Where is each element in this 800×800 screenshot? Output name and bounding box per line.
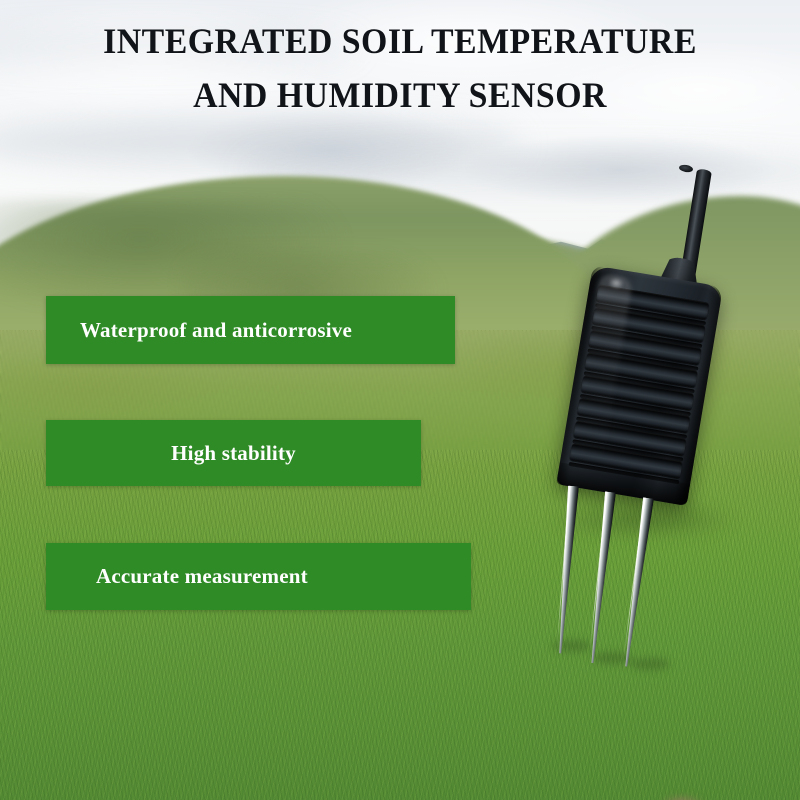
feature-label: Accurate measurement (96, 564, 308, 589)
feature-label: Waterproof and anticorrosive (80, 318, 352, 343)
background-scene (0, 0, 800, 800)
feature-banner-accuracy[interactable]: Accurate measurement (46, 543, 471, 610)
feature-label: High stability (171, 441, 296, 466)
feature-banner-stability[interactable]: High stability (46, 420, 421, 486)
product-poster: INTEGRATED SOIL TEMPERATURE AND HUMIDITY… (0, 0, 800, 800)
feature-banner-waterproof[interactable]: Waterproof and anticorrosive (46, 296, 455, 364)
